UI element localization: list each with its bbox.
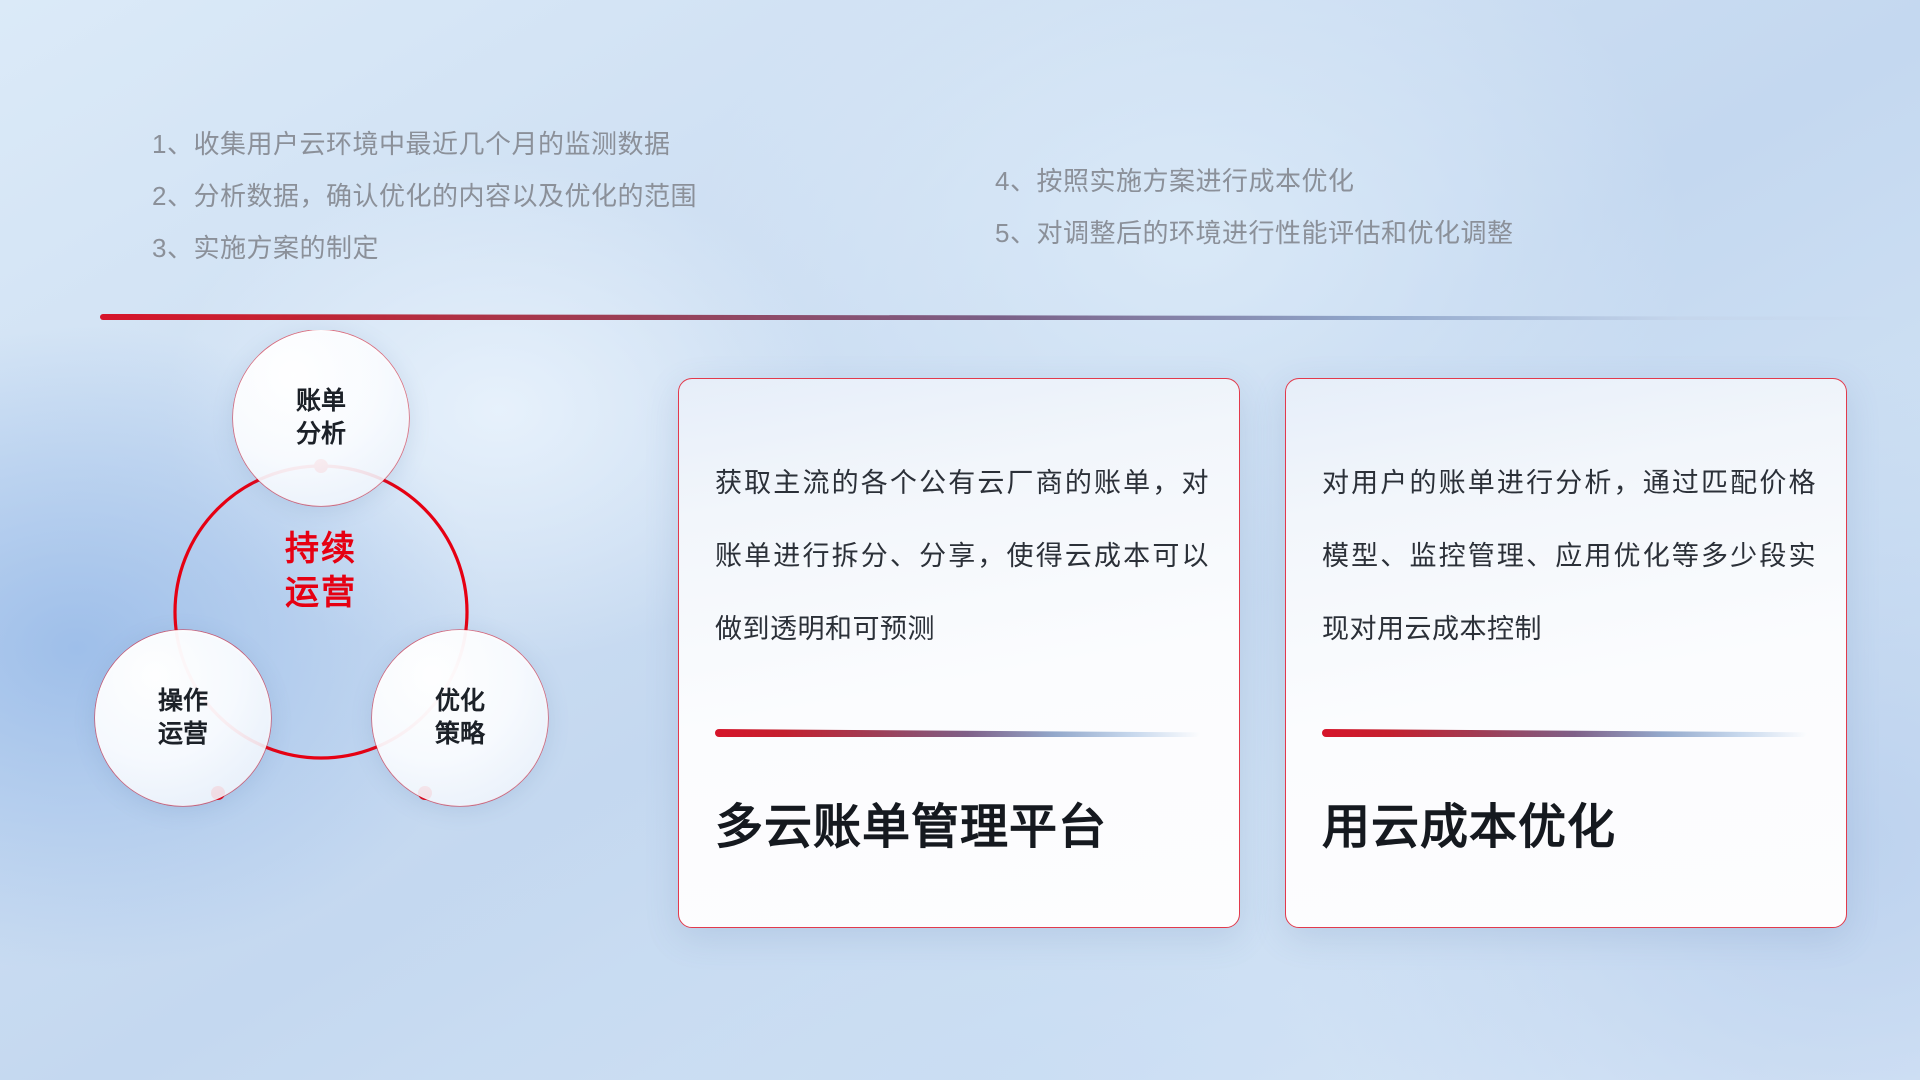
venn-bubble-operations[interactable]: 操作 运营 xyxy=(95,630,271,806)
card-title: 多云账单管理平台 xyxy=(715,787,1107,857)
venn-bubble-line-2: 运营 xyxy=(158,718,208,751)
venn-bubble-line-1: 账单 xyxy=(296,385,346,418)
section-divider xyxy=(100,314,1895,324)
venn-bubble-billing-analysis[interactable]: 账单 分析 xyxy=(233,330,409,506)
step-item-2: 2、分析数据，确认优化的内容以及优化的范围 xyxy=(152,170,697,222)
steps-left-column: 1、收集用户云环境中最近几个月的监测数据 2、分析数据，确认优化的内容以及优化的… xyxy=(152,118,697,274)
venn-bubble-optimization-strategy[interactable]: 优化 策略 xyxy=(372,630,548,806)
venn-center-line-1: 持续 xyxy=(236,527,406,571)
section-divider-line xyxy=(100,314,1895,320)
venn-bubble-line-1: 操作 xyxy=(158,685,208,718)
venn-bubble-line-1: 优化 xyxy=(435,685,485,718)
venn-diagram: 账单 分析 操作 运营 优化 策略 持续 运营 xyxy=(85,330,645,910)
step-item-3: 3、实施方案的制定 xyxy=(152,222,697,274)
card-divider xyxy=(715,729,1200,737)
card-body-text: 获取主流的各个公有云厂商的账单，对账单进行拆分、分享，使得云成本可以做到透明和可… xyxy=(715,447,1209,666)
slide-canvas: 1、收集用户云环境中最近几个月的监测数据 2、分析数据，确认优化的内容以及优化的… xyxy=(0,0,1920,1080)
step-item-1: 1、收集用户云环境中最近几个月的监测数据 xyxy=(152,118,697,170)
steps-right-column: 4、按照实施方案进行成本优化 5、对调整后的环境进行性能评估和优化调整 xyxy=(995,155,1513,259)
venn-center-label: 持续 运营 xyxy=(236,527,406,615)
venn-bubble-line-2: 策略 xyxy=(435,718,485,751)
venn-center-line-2: 运营 xyxy=(236,571,406,615)
card-body-text: 对用户的账单进行分析，通过匹配价格模型、监控管理、应用优化等多少段实现对用云成本… xyxy=(1322,447,1816,666)
card-cloud-cost-optimization[interactable]: 对用户的账单进行分析，通过匹配价格模型、监控管理、应用优化等多少段实现对用云成本… xyxy=(1285,378,1847,928)
card-divider xyxy=(1322,729,1807,737)
step-item-5: 5、对调整后的环境进行性能评估和优化调整 xyxy=(995,207,1513,259)
card-title: 用云成本优化 xyxy=(1322,787,1616,857)
venn-bubble-line-2: 分析 xyxy=(296,418,346,451)
card-multicloud-billing-platform[interactable]: 获取主流的各个公有云厂商的账单，对账单进行拆分、分享，使得云成本可以做到透明和可… xyxy=(678,378,1240,928)
step-item-4: 4、按照实施方案进行成本优化 xyxy=(995,155,1513,207)
